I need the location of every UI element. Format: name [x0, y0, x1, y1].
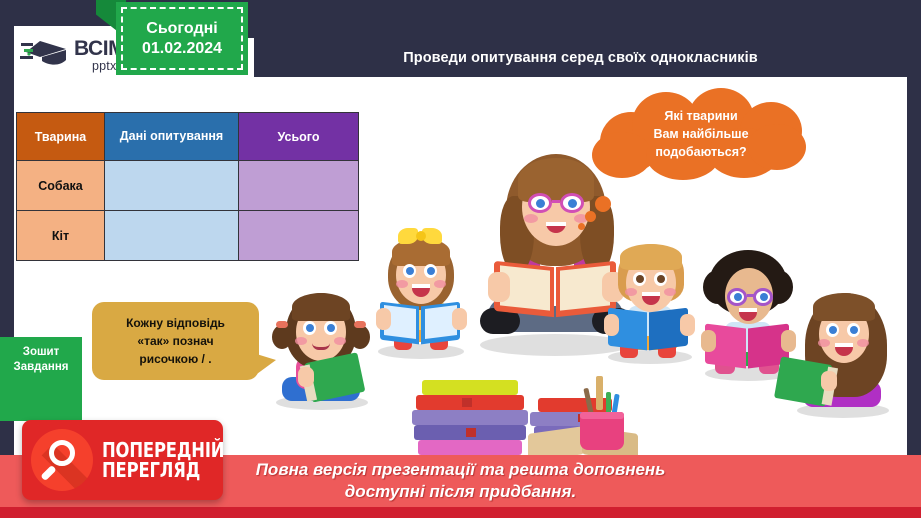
table-cell-animal: Собака [17, 161, 105, 211]
table-row: Кіт [17, 211, 359, 261]
table-header-animal: Тварина [17, 113, 105, 161]
figure-girl-pink [268, 285, 376, 415]
figure-girl-orange [785, 285, 903, 421]
date-badge: Сьогодні 01.02.2024 [116, 2, 248, 75]
speech-line-1: Кожну відповідь [126, 314, 225, 332]
figure-girl-bow [368, 228, 473, 363]
thought-dot-medium [585, 211, 596, 222]
thought-line-1: Які тварини [664, 107, 737, 125]
preview-label: ПОПЕРЕДНІЙ ПЕРЕГЛЯД [102, 440, 251, 481]
prop-pencil-cup [580, 382, 626, 454]
date-value: 01.02.2024 [142, 40, 222, 58]
magnifier-icon [31, 429, 93, 491]
speech-line-2: «так» познач [137, 332, 213, 350]
speech-line-3: рисочкою / . [139, 350, 211, 368]
thought-cloud-text: Які тварини Вам найбільше подобаються? [592, 88, 810, 180]
figure-boy-blond [600, 238, 700, 368]
table-cell-animal: Кіт [17, 211, 105, 261]
preview-line-1: ПОПЕРЕДНІЙ [102, 440, 224, 460]
table-cell-total[interactable] [239, 211, 359, 261]
thought-line-3: подобаються? [655, 143, 746, 161]
table-cell-data[interactable] [105, 161, 239, 211]
slide-canvas: Тварина Дані опитування Усього Собака Кі… [0, 0, 921, 518]
banner-line-1: Повна версія презентації та решта доповн… [256, 459, 666, 481]
preview-line-2: ПЕРЕГЛЯД [102, 460, 224, 480]
table-cell-data[interactable] [105, 211, 239, 261]
task-box: Зошит Завдання [0, 337, 82, 421]
header-bar: Проведи опитування серед своїх однокласн… [254, 38, 907, 77]
task-label-line1: Зошит [23, 346, 60, 358]
prop-book-stack [412, 380, 542, 460]
table-header-total: Усього [239, 113, 359, 161]
table-row: Собака [17, 161, 359, 211]
speech-bubble: Кожну відповідь «так» познач рисочкою / … [92, 302, 259, 380]
task-label-line2: Завдання [14, 361, 69, 373]
poll-table: Тварина Дані опитування Усього Собака Кі… [16, 112, 359, 261]
graduation-cap-icon [20, 35, 72, 75]
banner-line-2: доступні після придбання. [345, 481, 576, 503]
preview-badge[interactable]: ПОПЕРЕДНІЙ ПЕРЕГЛЯД [22, 420, 223, 500]
banner-bottom-strip [0, 507, 921, 518]
table-header-row: Тварина Дані опитування Усього [17, 113, 359, 161]
table-header-data: Дані опитування [105, 113, 239, 161]
thought-cloud: Які тварини Вам найбільше подобаються? [592, 88, 810, 180]
thought-line-2: Вам найбільше [653, 125, 748, 143]
table-cell-total[interactable] [239, 161, 359, 211]
date-label: Сьогодні [146, 20, 217, 38]
thought-dot-small [578, 223, 585, 230]
page-title: Проведи опитування серед своїх однокласн… [403, 50, 758, 66]
thought-dot-large [595, 196, 611, 212]
